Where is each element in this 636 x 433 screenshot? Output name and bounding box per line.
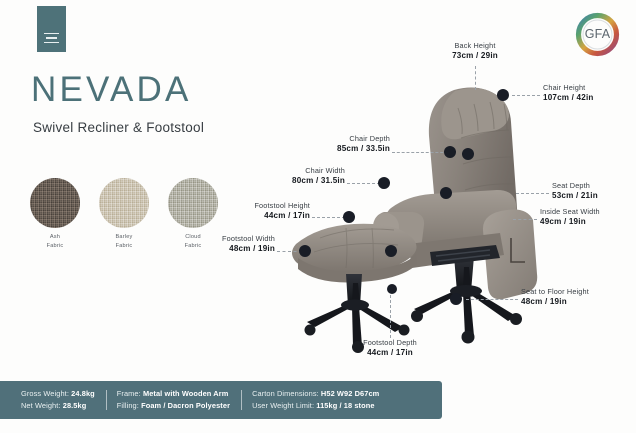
callout-chair-width: Chair Width 80cm / 31.5in — [251, 166, 345, 187]
spec-group-materials: Frame: Metal with Wooden Arm Filling: Fo… — [106, 388, 241, 412]
page-subtitle: Swivel Recliner & Footstool — [33, 120, 204, 135]
gfa-circular-logo: GFA — [571, 8, 624, 61]
swatch-ash-name: Ash — [30, 233, 80, 242]
callout-chair-height-value: 107cm / 42in — [543, 92, 635, 104]
spec-frame-label: Frame: — [117, 389, 141, 398]
callout-chair-depth: Chair Depth 85cm / 33.5in — [296, 134, 390, 155]
callout-footstool-height-value: 44cm / 17in — [215, 210, 310, 222]
leader-seat-to-floor — [466, 299, 518, 300]
callout-inside-seat-width: Inside Seat Width 49cm / 19in — [540, 207, 636, 228]
leader-footstool-depth — [390, 290, 391, 338]
specification-bar: Gross Weight: 24.8kg Net Weight: 28.5kg … — [0, 381, 442, 419]
callout-footstool-width-label: Footstool Width — [180, 234, 275, 243]
spec-user-weight-limit: User Weight Limit: 115kg / 18 stone — [252, 400, 379, 412]
swatch-cloud-disc — [168, 178, 218, 228]
spec-frame-value: Metal with Wooden Arm — [143, 389, 228, 398]
marker-seat-depth — [440, 187, 452, 199]
callout-footstool-height-label: Footstool Height — [215, 201, 310, 210]
spec-carton-dimensions-label: Carton Dimensions: — [252, 389, 319, 398]
swatch-barley-name: Barley — [99, 233, 149, 242]
leader-back-height — [475, 66, 476, 90]
callout-inside-seat-width-label: Inside Seat Width — [540, 207, 636, 216]
swatch-barley[interactable]: Barley Fabric — [99, 178, 149, 250]
swatch-ash-disc — [30, 178, 80, 228]
footstool — [292, 224, 417, 353]
callout-inside-seat-width-value: 49cm / 19in — [540, 216, 636, 228]
spec-filling: Filling: Foam / Dacron Polyester — [117, 400, 230, 412]
swatch-ash-label: Ash Fabric — [30, 233, 80, 250]
spec-carton-dimensions-value: H52 W92 D67cm — [321, 389, 379, 398]
marker-chair-height — [497, 89, 509, 101]
spec-net-weight: Net Weight: 28.5kg — [21, 400, 95, 412]
recliner-chair — [373, 88, 537, 344]
spec-carton-dimensions: Carton Dimensions: H52 W92 D67cm — [252, 388, 379, 400]
callout-footstool-width-value: 48cm / 19in — [180, 243, 275, 255]
callout-seat-to-floor-height-value: 48cm / 19in — [521, 296, 633, 308]
callout-seat-depth-value: 53cm / 21in — [552, 190, 636, 202]
marker-footstool-corner — [385, 245, 397, 257]
spec-filling-label: Filling: — [117, 401, 139, 410]
callout-footstool-depth-value: 44cm / 17in — [342, 347, 438, 359]
callout-seat-depth-label: Seat Depth — [552, 181, 636, 190]
leader-chair-width — [347, 183, 380, 184]
callout-chair-height-label: Chair Height — [543, 83, 635, 92]
leader-seat-depth — [516, 193, 549, 194]
callout-back-height-label: Back Height — [434, 41, 516, 50]
badge-line-1 — [44, 33, 59, 35]
spec-user-weight-limit-value: 115kg / 18 stone — [316, 401, 374, 410]
leader-chair-height — [512, 95, 540, 96]
badge-line-3 — [44, 42, 59, 44]
callout-chair-width-value: 80cm / 31.5in — [251, 175, 345, 187]
swatch-barley-disc — [99, 178, 149, 228]
swatch-barley-label: Barley Fabric — [99, 233, 149, 250]
marker-footstool-width — [299, 245, 311, 257]
marker-chair-depth — [444, 146, 456, 158]
callout-seat-depth: Seat Depth 53cm / 21in — [552, 181, 636, 202]
callout-footstool-depth: Footstool Depth 44cm / 17in — [342, 338, 438, 359]
swatch-ash[interactable]: Ash Fabric — [30, 178, 80, 250]
leader-chair-depth — [392, 152, 448, 153]
spec-net-weight-label: Net Weight: — [21, 401, 61, 410]
callout-back-height-value: 73cm / 29in — [434, 50, 516, 62]
callout-chair-depth-value: 85cm / 33.5in — [296, 143, 390, 155]
spec-gross-weight: Gross Weight: 24.8kg — [21, 388, 95, 400]
spec-frame: Frame: Metal with Wooden Arm — [117, 388, 230, 400]
marker-footstool-depth — [387, 284, 397, 294]
callout-back-height: Back Height 73cm / 29in — [434, 41, 516, 62]
leader-inside-seat-width — [513, 219, 537, 220]
brand-badge-logo — [37, 6, 66, 52]
spec-net-weight-value: 28.5kg — [63, 401, 87, 410]
spec-gross-weight-label: Gross Weight: — [21, 389, 69, 398]
callout-chair-depth-label: Chair Depth — [296, 134, 390, 143]
callout-chair-width-label: Chair Width — [251, 166, 345, 175]
spec-user-weight-limit-label: User Weight Limit: — [252, 401, 314, 410]
spec-gross-weight-value: 24.8kg — [71, 389, 95, 398]
spec-group-carton: Carton Dimensions: H52 W92 D67cm User We… — [241, 388, 390, 412]
swatch-barley-type: Fabric — [99, 242, 149, 251]
gfa-logo-text: GFA — [585, 27, 611, 41]
badge-line-2 — [46, 37, 57, 39]
callout-footstool-depth-label: Footstool Depth — [342, 338, 438, 347]
callout-footstool-height: Footstool Height 44cm / 17in — [215, 201, 310, 222]
spec-filling-value: Foam / Dacron Polyester — [141, 401, 230, 410]
callout-seat-to-floor-height: Seat to Floor Height 48cm / 19in — [521, 287, 633, 308]
spec-group-weights: Gross Weight: 24.8kg Net Weight: 28.5kg — [10, 388, 106, 412]
leader-footstool-height — [312, 217, 345, 218]
swatch-ash-type: Fabric — [30, 242, 80, 251]
marker-chair-depth-alt — [462, 148, 474, 160]
callout-seat-to-floor-height-label: Seat to Floor Height — [521, 287, 633, 296]
page-title: NEVADA — [31, 72, 192, 107]
marker-chair-width — [378, 177, 390, 189]
callout-chair-height: Chair Height 107cm / 42in — [543, 83, 635, 104]
marker-seat-to-floor — [450, 293, 462, 305]
callout-footstool-width: Footstool Width 48cm / 19in — [180, 234, 275, 255]
marker-footstool-height — [343, 211, 355, 223]
